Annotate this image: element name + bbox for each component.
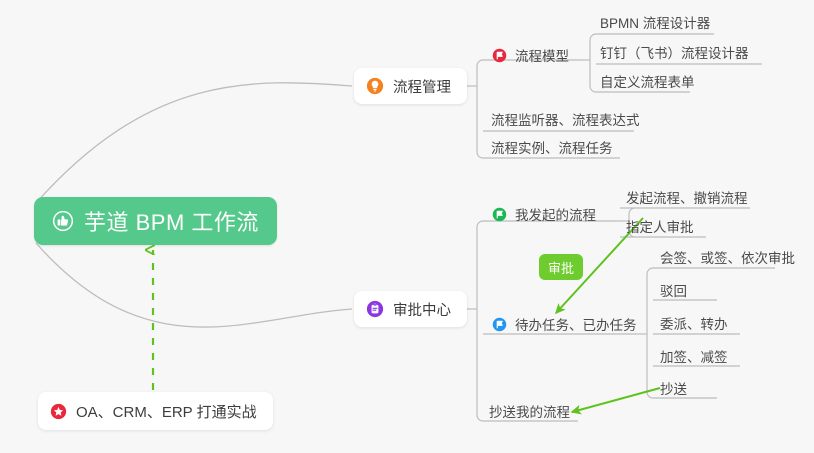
- leaf-label-add-remove-sign: 加签、减签: [660, 346, 728, 366]
- branch-label-process-management: 流程管理: [393, 76, 451, 97]
- connector-process-management-bracket: [477, 60, 483, 158]
- connector-todo-bracket: [647, 268, 653, 398]
- connector-approval-center-bracket: [477, 221, 483, 421]
- approval-tag-label: 审批: [548, 258, 574, 277]
- root-node[interactable]: 芋道 BPM 工作流: [34, 197, 277, 245]
- branch-node-approval-center[interactable]: 审批中心: [354, 291, 467, 327]
- leaf-node-add-remove-sign[interactable]: 加签、减签: [658, 345, 730, 367]
- leaf-label-custom-process-form: 自定义流程表单: [600, 71, 695, 91]
- leaf-label-assignee-approval: 指定人审批: [626, 216, 694, 236]
- sub-node-process-model[interactable]: 流程模型: [492, 44, 569, 66]
- leaf-label-process-instance-task: 流程实例、流程任务: [491, 137, 613, 157]
- green-diagonal-arrow: [572, 388, 660, 412]
- sub-label-my-started-process: 我发起的流程: [515, 204, 596, 224]
- clipboard-icon: [366, 300, 384, 318]
- bottom-note-node[interactable]: OA、CRM、ERP 打通实战: [38, 392, 273, 430]
- flag-icon: [492, 317, 507, 332]
- connector-process-model-bracket: [590, 34, 596, 92]
- leaf-label-dingtalk-feishu-designer: 钉钉（飞书）流程设计器: [600, 42, 749, 62]
- sub-label-process-model: 流程模型: [515, 45, 569, 65]
- leaf-node-delegate-transfer[interactable]: 委派、转办: [658, 312, 730, 334]
- leaf-node-bpmn-designer[interactable]: BPMN 流程设计器: [598, 11, 712, 33]
- branch-label-approval-center: 审批中心: [393, 299, 451, 320]
- branch-node-process-management[interactable]: 流程管理: [354, 68, 467, 104]
- root-label: 芋道 BPM 工作流: [84, 205, 259, 237]
- leaf-node-assignee-approval[interactable]: 指定人审批: [624, 215, 696, 237]
- connector-root-to-approval-center: [36, 243, 352, 327]
- leaf-label-start-cancel-process: 发起流程、撤销流程: [626, 187, 748, 207]
- leaf-label-process-listener-expression: 流程监听器、流程表达式: [491, 109, 640, 129]
- leaf-label-delegate-transfer: 委派、转办: [660, 313, 728, 333]
- leaf-node-reject[interactable]: 驳回: [658, 279, 689, 301]
- bottom-note-label: OA、CRM、ERP 打通实战: [76, 401, 257, 422]
- leaf-node-start-cancel-process[interactable]: 发起流程、撤销流程: [624, 186, 750, 208]
- mindmap-canvas: 芋道 BPM 工作流 OA、CRM、ERP 打通实战 流程管理: [0, 0, 814, 453]
- leaf-node-cc-to-me-process[interactable]: 抄送我的流程: [487, 400, 572, 422]
- sub-node-todo-done-task[interactable]: 待办任务、已办任务: [492, 313, 637, 335]
- leaf-label-cc-to-me-process: 抄送我的流程: [489, 401, 570, 421]
- star-icon: [50, 403, 67, 420]
- leaf-node-process-listener-expression[interactable]: 流程监听器、流程表达式: [489, 108, 642, 130]
- leaf-label-countersign-orsign-sequential: 会签、或签、依次审批: [660, 247, 795, 267]
- connector-root-to-process-management: [36, 83, 352, 203]
- thumbs-up-icon: [52, 210, 74, 232]
- flag-icon: [492, 207, 507, 222]
- leaf-node-process-instance-task[interactable]: 流程实例、流程任务: [489, 136, 615, 158]
- leaf-node-cc[interactable]: 抄送: [658, 377, 689, 399]
- leaf-label-bpmn-designer: BPMN 流程设计器: [600, 12, 710, 32]
- leaf-node-custom-process-form[interactable]: 自定义流程表单: [598, 70, 697, 92]
- leaf-label-cc: 抄送: [660, 378, 687, 398]
- sub-node-my-started-process[interactable]: 我发起的流程: [492, 203, 596, 225]
- leaf-node-countersign-orsign-sequential[interactable]: 会签、或签、依次审批: [658, 246, 797, 268]
- flag-icon: [492, 48, 507, 63]
- leaf-label-reject: 驳回: [660, 280, 687, 300]
- leaf-node-dingtalk-feishu-designer[interactable]: 钉钉（飞书）流程设计器: [598, 41, 751, 63]
- approval-tag-badge[interactable]: 审批: [539, 254, 583, 280]
- lightbulb-icon: [366, 77, 384, 95]
- sub-label-todo-done-task: 待办任务、已办任务: [515, 314, 637, 334]
